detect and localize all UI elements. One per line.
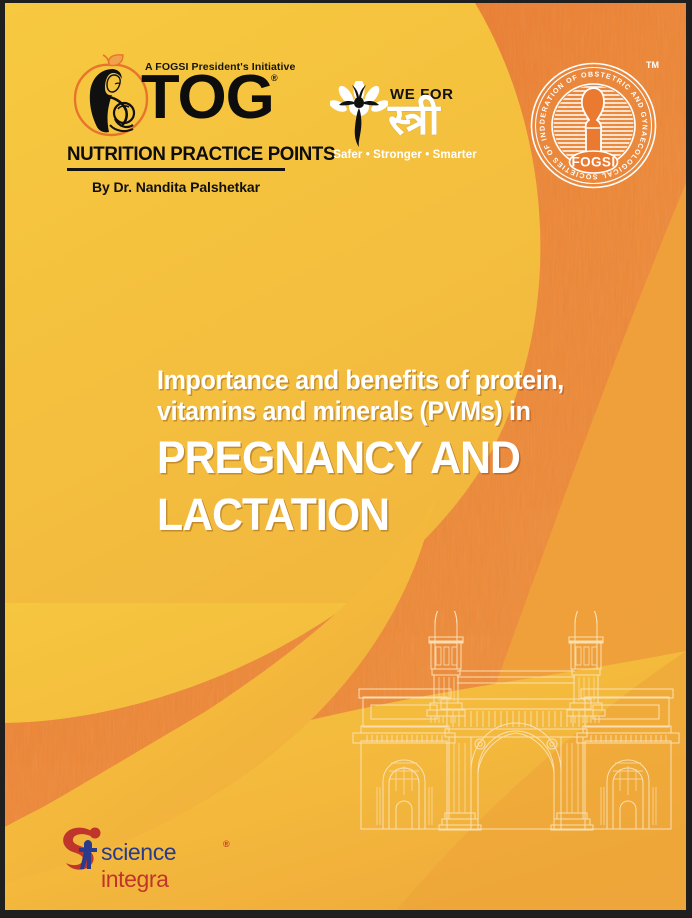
publisher-name: science integra xyxy=(101,839,237,893)
title-line-2: vitamins and minerals (PVMs) in xyxy=(157,396,594,427)
tog-underline xyxy=(67,168,285,171)
fogsi-seal-icon: FEDERATION OF OBSTETRIC AND GYNAECOLOGIC… xyxy=(526,58,661,193)
fogsi-center-text: FOGSI xyxy=(571,155,615,170)
we-for-stri-logo: WE FOR स्त्री Safer • Stronger • Smarter xyxy=(330,81,480,169)
tog-subtitle: NUTRITION PRACTICE POINTS xyxy=(67,143,290,166)
publisher-name-first: science xyxy=(101,839,176,865)
publisher-logo: science integra ® xyxy=(57,823,237,877)
tog-registered-mark: ® xyxy=(271,73,278,83)
cover-canvas: A FOGSI President's Initiative TOG ® NUT… xyxy=(5,3,686,910)
tog-logo: A FOGSI President's Initiative TOG ® NUT… xyxy=(67,51,299,195)
stri-devanagari-text: स्त्री xyxy=(388,97,440,143)
fogsi-logo: FEDERATION OF OBSTETRIC AND GYNAECOLOGIC… xyxy=(526,58,661,193)
header-logos: A FOGSI President's Initiative TOG ® NUT… xyxy=(5,3,686,218)
tog-author: By Dr. Nandita Palshetkar xyxy=(67,179,285,195)
publisher-registered-mark: ® xyxy=(223,839,230,849)
gateway-of-india-line-art xyxy=(349,611,683,856)
lotus-woman-icon xyxy=(330,81,388,149)
fogsi-trademark: TM xyxy=(646,60,659,70)
tog-wordmark: TOG xyxy=(141,67,274,129)
cover-page: A FOGSI President's Initiative TOG ® NUT… xyxy=(0,0,692,918)
cover-title: Importance and benefits of protein, vita… xyxy=(157,365,627,541)
we-for-stri-tagline: Safer • Stronger • Smarter xyxy=(330,149,480,161)
title-line-1: Importance and benefits of protein, xyxy=(157,365,594,396)
publisher-name-second: integra xyxy=(101,866,169,892)
title-emphasis-line-1: PREGNANCY AND xyxy=(157,431,604,484)
title-emphasis-line-2: LACTATION xyxy=(157,488,604,541)
